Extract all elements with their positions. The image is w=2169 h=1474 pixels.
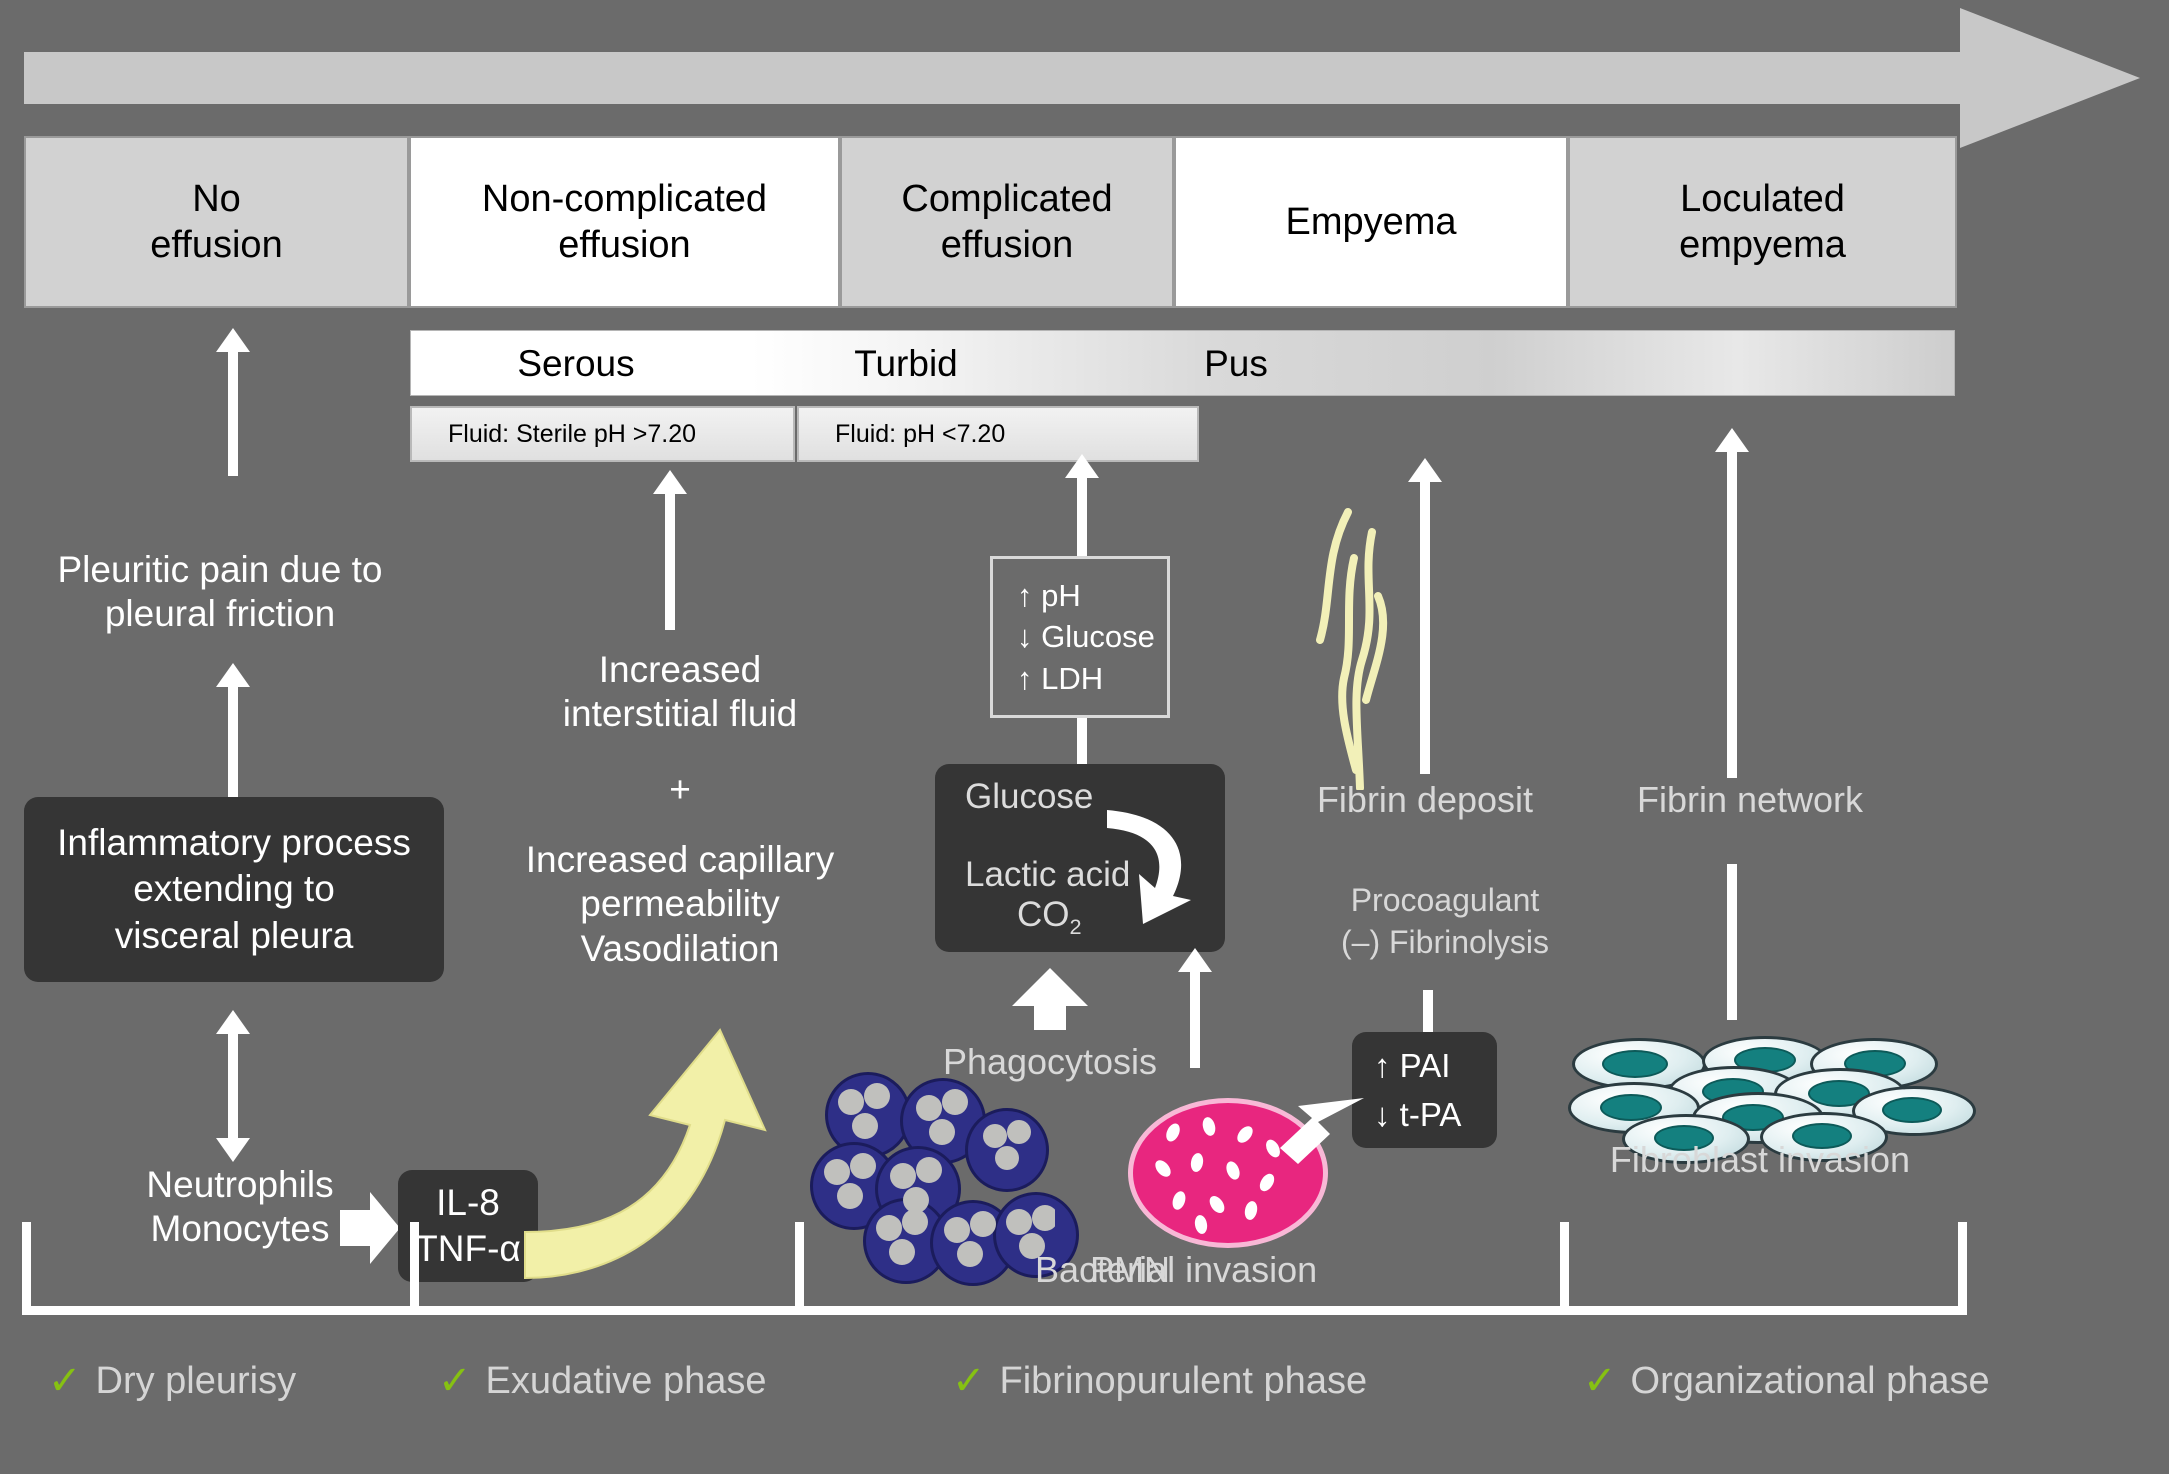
pleuritic-pain-line1: Pleuritic pain due to: [58, 549, 383, 590]
neutrophils-label: Neutrophils: [146, 1164, 333, 1205]
cytokines-box[interactable]: IL-8 TNF-α: [398, 1170, 538, 1282]
stage-label-non-complicated-effusion: Non-complicated effusion: [482, 176, 767, 269]
exudative-line5: Vasodilation: [581, 928, 780, 969]
fibroblast-invasion-label: Fibroblast invasion: [1560, 1138, 1960, 1181]
stage-label-line1: Non-complicated: [482, 178, 767, 220]
phase-label: Dry pleurisy: [96, 1360, 297, 1403]
stage-label-loculated-empyema: Loculated empyema: [1679, 176, 1846, 269]
block-arrow-bacteria-to-pai: [1278, 1092, 1368, 1172]
exudative-line3: Increased capillary: [526, 839, 834, 880]
stage-box-no-effusion[interactable]: No effusion: [24, 136, 409, 308]
phase-label: Exudative phase: [486, 1360, 767, 1403]
phase-bracket-tick-1: [410, 1222, 419, 1314]
stage-label-line1: Loculated: [1680, 178, 1845, 220]
stage-label-no-effusion: No effusion: [150, 176, 282, 269]
tpa-row: ↓ t-PA: [1374, 1090, 1461, 1140]
fibrinolysis-line2: (–) Fibrinolysis: [1341, 924, 1549, 960]
phase-label: Fibrinopurulent phase: [1000, 1360, 1368, 1403]
inflammatory-line2: extending to: [133, 866, 335, 912]
phase-bracket-tick-0: [22, 1222, 31, 1314]
fluid-label-turbid: Turbid: [741, 331, 1071, 397]
inflammatory-line3: visceral pleura: [115, 913, 354, 959]
exudative-line1: Increased: [599, 649, 762, 690]
pai-tpa-box[interactable]: ↑ PAI ↓ t-PA: [1352, 1032, 1497, 1148]
pai-row: ↑ PAI: [1374, 1041, 1450, 1091]
metabolism-cycle-arrow: [1093, 796, 1203, 926]
stage-label-line2: effusion: [150, 224, 282, 266]
pmn-cell-cluster: [805, 1050, 1055, 1260]
fluid-appearance-bar: Serous Turbid Pus: [410, 330, 1955, 396]
phase-label: Organizational phase: [1631, 1360, 1990, 1403]
co2-subscript: 2: [1070, 914, 1082, 939]
arrow-up-to-non-complicated: [665, 490, 675, 630]
exudative-line4: permeability: [580, 883, 779, 924]
arrow-down-head-cells: [216, 1138, 250, 1162]
co2-text: CO: [1017, 895, 1070, 934]
exudative-plus-sign: +: [470, 768, 890, 812]
stage-label-line2: effusion: [941, 224, 1073, 266]
pleuritic-pain-label: Pleuritic pain due to pleural friction: [10, 548, 430, 637]
check-icon: ✓: [952, 1358, 986, 1404]
exudative-mechanism-label: Increased interstitial fluid: [470, 648, 890, 737]
phase-item-organizational[interactable]: ✓ Organizational phase: [1583, 1358, 1990, 1404]
inflammatory-line1: Inflammatory process: [57, 820, 411, 866]
phase-bracket-tick-4: [1958, 1222, 1967, 1314]
phase-item-exudative[interactable]: ✓ Exudative phase: [438, 1358, 767, 1404]
fluid-biochemistry-box[interactable]: ↑ pH ↓ Glucose ↑ LDH: [990, 556, 1170, 718]
fluid-label-serous: Serous: [411, 331, 741, 397]
exudative-mechanism-label-2: Increased capillary permeability Vasodil…: [460, 838, 900, 971]
stage-label-complicated-effusion: Complicated effusion: [901, 176, 1112, 269]
biochem-row-glucose: ↓ Glucose: [1017, 616, 1167, 657]
phase-bracket-tick-3: [1560, 1222, 1569, 1314]
block-arrow-up-phagocytosis: [1010, 968, 1090, 1030]
arrow-up-to-loculated-empyema: [1727, 448, 1737, 778]
monocytes-label: Monocytes: [151, 1208, 330, 1249]
fluid-test-box-sterile: Fluid: Sterile pH >7.20: [410, 406, 795, 462]
stage-box-empyema[interactable]: Empyema: [1174, 136, 1568, 308]
connector-pai-to-procoagulant: [1423, 990, 1433, 1032]
procoagulant-label: Procoagulant (–) Fibrinolysis: [1320, 880, 1570, 963]
phase-bracket-tick-2: [795, 1222, 804, 1314]
fluid-test-text: Fluid: Sterile pH >7.20: [448, 420, 696, 449]
biochem-row-ldh: ↑ LDH: [1017, 658, 1167, 699]
connector-metabolism-to-biochem: [1077, 718, 1087, 764]
inflammatory-process-box[interactable]: Inflammatory process extending to viscer…: [24, 797, 444, 982]
glucose-metabolism-box[interactable]: Glucose Lactic acid CO2: [935, 764, 1225, 952]
check-icon: ✓: [48, 1358, 82, 1404]
glucose-label: Glucose: [965, 777, 1093, 817]
fibrin-deposit-label: Fibrin deposit: [1290, 778, 1560, 821]
stage-box-loculated-empyema[interactable]: Loculated empyema: [1568, 136, 1957, 308]
phase-item-dry-pleurisy[interactable]: ✓ Dry pleurisy: [48, 1358, 296, 1404]
stage-label-line2: empyema: [1679, 224, 1846, 266]
fluid-test-text: Fluid: pH <7.20: [835, 420, 1005, 449]
stage-label-line1: Complicated: [901, 178, 1112, 220]
pleuritic-pain-line2: pleural friction: [105, 593, 335, 634]
arrow-up-cells-to-inflammation: [228, 1030, 238, 1138]
arrow-up-inflammation-to-pain: [228, 683, 238, 803]
stage-label-line2: effusion: [558, 224, 690, 266]
fibrin-network-label: Fibrin network: [1600, 778, 1900, 821]
check-icon: ✓: [438, 1358, 472, 1404]
stage-box-complicated-effusion[interactable]: Complicated effusion: [840, 136, 1174, 308]
stage-label-empyema: Empyema: [1285, 199, 1456, 245]
bacterial-invasion-label: Bacterial invasion: [1035, 1248, 1475, 1291]
tnf-alpha-label: TNF-α: [415, 1226, 521, 1272]
block-arrow-right-cytokines: [340, 1188, 400, 1268]
phase-item-fibrinopurulent[interactable]: ✓ Fibrinopurulent phase: [952, 1358, 1367, 1404]
progression-arrow-head: [1960, 8, 2140, 148]
progression-arrow-band: [24, 52, 2046, 104]
stage-box-non-complicated-effusion[interactable]: Non-complicated effusion: [409, 136, 840, 308]
exudative-line2: interstitial fluid: [563, 693, 797, 734]
stage-label-line1: No: [192, 178, 241, 220]
fluid-label-pus: Pus: [1071, 331, 1401, 397]
il8-label: IL-8: [436, 1180, 500, 1226]
phase-bracket-base: [22, 1306, 1967, 1315]
connector-fibroblast-to-network: [1727, 864, 1737, 1020]
arrow-up-bacteria-to-metabolism: [1190, 968, 1200, 1068]
diagram-canvas: No effusion Non-complicated effusion Com…: [0, 0, 2169, 1474]
check-icon: ✓: [1583, 1358, 1617, 1404]
fluid-test-box-low-ph: Fluid: pH <7.20: [797, 406, 1199, 462]
procoagulant-line1: Procoagulant: [1351, 882, 1540, 918]
fibrin-strands-illustration: [1300, 500, 1430, 790]
co2-label: CO2: [1017, 895, 1082, 940]
arrow-up-to-no-effusion: [228, 348, 238, 476]
biochem-row-ph: ↑ pH: [1017, 575, 1167, 616]
